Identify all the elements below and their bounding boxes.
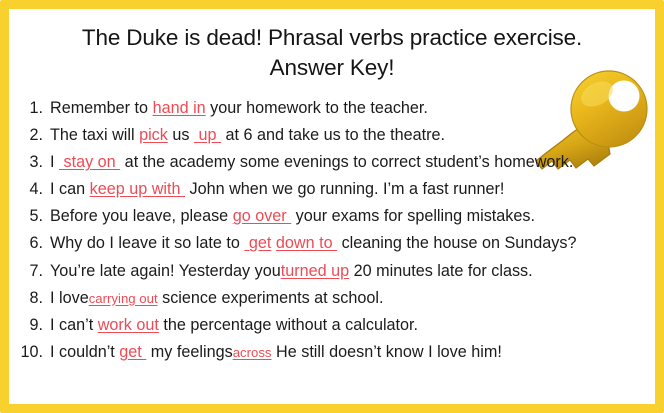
sentence-middle: us [168, 126, 194, 144]
list-item-text: I can keep up with John when we go runni… [50, 176, 504, 203]
answer-phrase: stay on [59, 153, 120, 171]
list-item: 1.Remember to hand in your homework to t… [9, 95, 655, 122]
list-item: 7.You’re late again! Yesterday youturned… [9, 258, 655, 285]
list-item: 6.Why do I leave it so late to get down … [9, 230, 655, 257]
sentence-after: your exams for spelling mistakes. [291, 207, 535, 225]
sentence-after: John when we go running. I’m a fast runn… [185, 180, 504, 198]
answer-phrase: turned up [281, 262, 349, 280]
list-item-text: The taxi will pick us up at 6 and take u… [50, 122, 445, 149]
list-item: 4.I can keep up with John when we go run… [9, 176, 655, 203]
answer-phrase: work out [98, 316, 159, 334]
answer-phrase: get [119, 343, 146, 361]
list-item-number: 8. [9, 285, 43, 312]
sentence-middle: my feelings [146, 343, 232, 361]
answer-phrase: keep up with [90, 180, 185, 198]
sentence-before: I [50, 153, 59, 171]
list-item-text: Why do I leave it so late to get down to… [50, 230, 576, 257]
list-item-number: 9. [9, 312, 43, 339]
sentence-after: cleaning the house on Sundays? [337, 234, 576, 252]
list-item-text: I couldn’t get my feelingsacross He stil… [50, 339, 502, 366]
sentence-before: I love [50, 289, 89, 307]
sentence-before: I can [50, 180, 90, 198]
sentence-after: at the academy some evenings to correct … [120, 153, 573, 171]
sentence-after: at 6 and take us to the theatre. [221, 126, 445, 144]
answer-phrase-secondary: down to [276, 234, 337, 252]
sentence-before: The taxi will [50, 126, 139, 144]
sentence-after: He still doesn’t know I love him! [272, 343, 502, 361]
list-item-text: Before you leave, please go over your ex… [50, 203, 535, 230]
list-item-text: You’re late again! Yesterday youturned u… [50, 258, 533, 285]
list-item-number: 7. [9, 258, 43, 285]
list-item-text: Remember to hand in your homework to the… [50, 95, 428, 122]
answer-key-worksheet: The Duke is dead! Phrasal verbs practice… [0, 0, 664, 413]
list-item: 3.I stay on at the academy some evenings… [9, 149, 655, 176]
sentence-before: You’re late again! Yesterday you [50, 262, 281, 280]
list-item-number: 6. [9, 230, 43, 257]
sentence-after: your homework to the teacher. [206, 99, 428, 117]
sentence-before: Before you leave, please [50, 207, 233, 225]
list-item-number: 3. [9, 149, 43, 176]
answer-phrase: hand in [153, 99, 206, 117]
sentence-before: I can’t [50, 316, 98, 334]
answer-phrase-secondary: up [194, 126, 221, 144]
list-item-number: 5. [9, 203, 43, 230]
answer-phrase: pick [139, 126, 168, 144]
sentence-before: Remember to [50, 99, 153, 117]
answer-phrase: carrying out [89, 291, 158, 306]
title-line-1: The Duke is dead! Phrasal verbs practice… [9, 23, 655, 53]
title-line-2: Answer Key! [9, 53, 655, 83]
answer-phrase: get [244, 234, 271, 252]
page-title: The Duke is dead! Phrasal verbs practice… [9, 9, 655, 83]
list-item-number: 4. [9, 176, 43, 203]
list-item-text: I lovecarrying out science experiments a… [50, 285, 383, 312]
sentence-after: the percentage without a calculator. [159, 316, 418, 334]
sentence-before: I couldn’t [50, 343, 119, 361]
sentence-after: science experiments at school. [158, 289, 384, 307]
answer-list: 1.Remember to hand in your homework to t… [9, 95, 655, 366]
list-item-text: I can’t work out the percentage without … [50, 312, 418, 339]
answer-phrase: go over [233, 207, 292, 225]
list-item: 8.I lovecarrying out science experiments… [9, 285, 655, 312]
sentence-after: 20 minutes late for class. [349, 262, 533, 280]
list-item-number: 10. [9, 339, 43, 366]
list-item: 10.I couldn’t get my feelingsacross He s… [9, 339, 655, 366]
list-item-text: I stay on at the academy some evenings t… [50, 149, 573, 176]
sentence-before: Why do I leave it so late to [50, 234, 244, 252]
list-item: 5.Before you leave, please go over your … [9, 203, 655, 230]
list-item: 9.I can’t work out the percentage withou… [9, 312, 655, 339]
answer-phrase-secondary: across [233, 345, 272, 360]
list-item: 2.The taxi will pick us up at 6 and take… [9, 122, 655, 149]
list-item-number: 1. [9, 95, 43, 122]
list-item-number: 2. [9, 122, 43, 149]
